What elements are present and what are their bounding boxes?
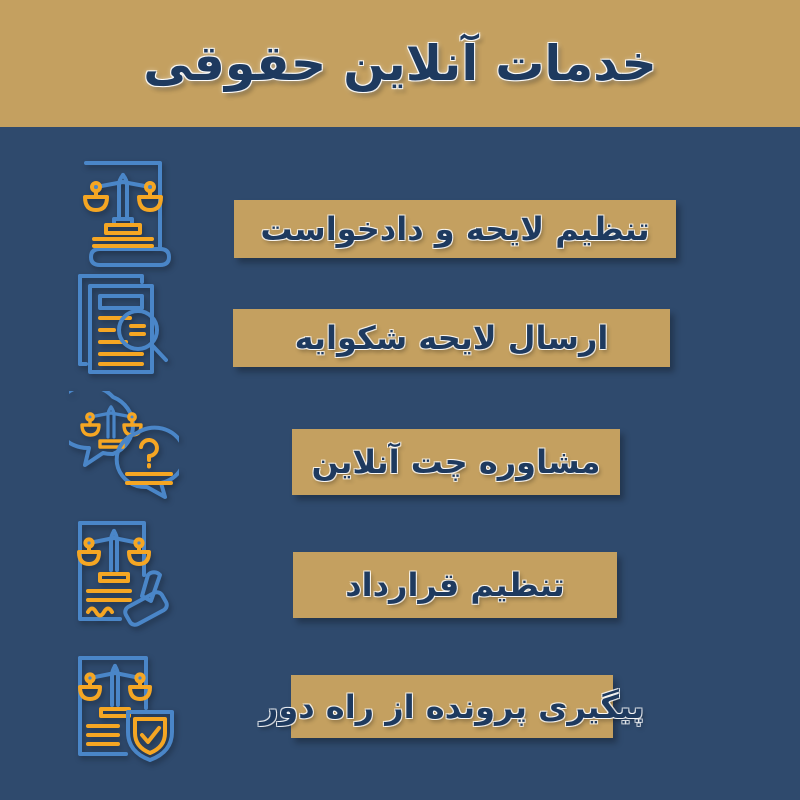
service-label-band-5[interactable]: پیگیری پرونده از راه دور bbox=[291, 675, 613, 738]
header-band: خدمات آنلاین حقوقی bbox=[0, 0, 800, 127]
page-title: خدمات آنلاین حقوقی bbox=[143, 39, 657, 88]
service-label-5: پیگیری پرونده از راه دور bbox=[260, 691, 644, 723]
infographic-poster: خدمات آنلاین حقوقی bbox=[0, 0, 800, 800]
service-row-3[interactable]: مشاوره چت آنلاین bbox=[0, 385, 800, 509]
service-row-2[interactable]: ارسال لایحه شکوایه bbox=[0, 261, 800, 385]
service-label-3: مشاوره چت آنلاین bbox=[312, 446, 601, 478]
chat-bubbles-scales-question-icon bbox=[62, 385, 186, 509]
service-label-band-4[interactable]: تنظیم قرارداد bbox=[293, 552, 617, 618]
scroll-scales-icon bbox=[62, 150, 186, 274]
service-label-4: تنظیم قرارداد bbox=[345, 569, 565, 601]
services-list: تنظیم لایحه و دادخواست bbox=[0, 127, 800, 800]
service-label-band-1[interactable]: تنظیم لایحه و دادخواست bbox=[234, 200, 676, 258]
service-label-band-3[interactable]: مشاوره چت آنلاین bbox=[292, 429, 620, 495]
service-row-1[interactable]: تنظیم لایحه و دادخواست bbox=[0, 150, 800, 274]
service-label-band-2[interactable]: ارسال لایحه شکوایه bbox=[233, 309, 670, 367]
service-label-1: تنظیم لایحه و دادخواست bbox=[260, 213, 649, 245]
documents-magnifier-icon bbox=[62, 261, 186, 385]
document-scales-shield-check-icon bbox=[62, 645, 186, 769]
service-row-4[interactable]: تنظیم قرارداد bbox=[0, 511, 800, 635]
service-label-2: ارسال لایحه شکوایه bbox=[295, 322, 609, 354]
service-row-5[interactable]: پیگیری پرونده از راه دور bbox=[0, 645, 800, 769]
contract-scales-stamp-icon bbox=[62, 511, 186, 635]
